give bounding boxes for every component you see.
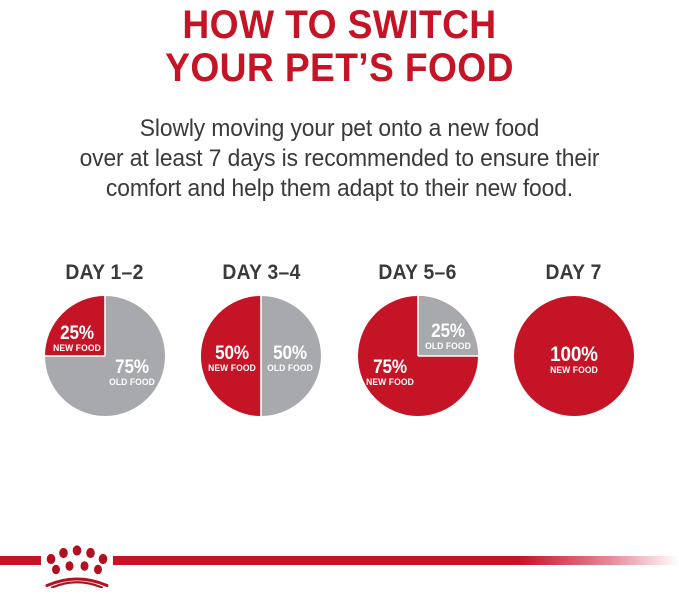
intro-line-2: over at least 7 days is recommended to e…	[17, 144, 662, 174]
pie-cell-day-1-2: DAY 1–2 25% NEW FOOD 75% OLD FOOD	[30, 262, 180, 442]
pie-svg-1	[45, 296, 165, 416]
title-line-1: HOW TO SWITCH	[24, 4, 655, 47]
pie-chart-day-1-2: 25% NEW FOOD 75% OLD FOOD	[45, 296, 165, 416]
pie-slice-new-food-2	[201, 296, 261, 416]
day-label-3: DAY 5–6	[379, 262, 457, 283]
infographic-page: HOW TO SWITCH YOUR PET’S FOOD Slowly mov…	[0, 0, 679, 594]
pie-chart-day-7: 100% NEW FOOD	[514, 296, 634, 416]
pie-slice-new-food-4	[514, 296, 634, 416]
intro-line-3: comfort and help them adapt to their new…	[17, 174, 662, 204]
pie-cell-day-3-4: DAY 3–4 50% NEW FOOD 50% OLD FOOD	[186, 262, 336, 442]
crown-icon	[41, 542, 113, 588]
pie-svg-4	[514, 296, 634, 416]
pie-svg-2	[201, 296, 321, 416]
title-line-2: YOUR PET’S FOOD	[24, 47, 655, 90]
pie-slice-old-food-3	[418, 296, 478, 356]
footer-rule-right	[113, 556, 679, 565]
pie-svg-3	[358, 296, 478, 416]
pie-slice-new-food-1	[45, 296, 105, 356]
page-title: HOW TO SWITCH YOUR PET’S FOOD	[0, 4, 679, 90]
day-label-4: DAY 7	[546, 262, 602, 283]
day-label-1: DAY 1–2	[66, 262, 144, 283]
pie-cell-day-7: DAY 7 100% NEW FOOD	[499, 262, 649, 442]
intro-paragraph: Slowly moving your pet onto a new food o…	[0, 114, 679, 204]
pie-chart-day-5-6: 75% NEW FOOD 25% OLD FOOD	[358, 296, 478, 416]
royal-canin-crown-logo	[41, 542, 113, 588]
intro-line-1: Slowly moving your pet onto a new food	[17, 114, 662, 144]
pie-chart-day-3-4: 50% NEW FOOD 50% OLD FOOD	[201, 296, 321, 416]
footer	[0, 534, 679, 594]
pie-cell-day-5-6: DAY 5–6 75% NEW FOOD 25% OLD FOOD	[343, 262, 493, 442]
day-label-2: DAY 3–4	[222, 262, 300, 283]
pie-chart-row: DAY 1–2 25% NEW FOOD 75% OLD FOOD DAY	[0, 262, 679, 442]
footer-rule-left	[0, 556, 41, 565]
